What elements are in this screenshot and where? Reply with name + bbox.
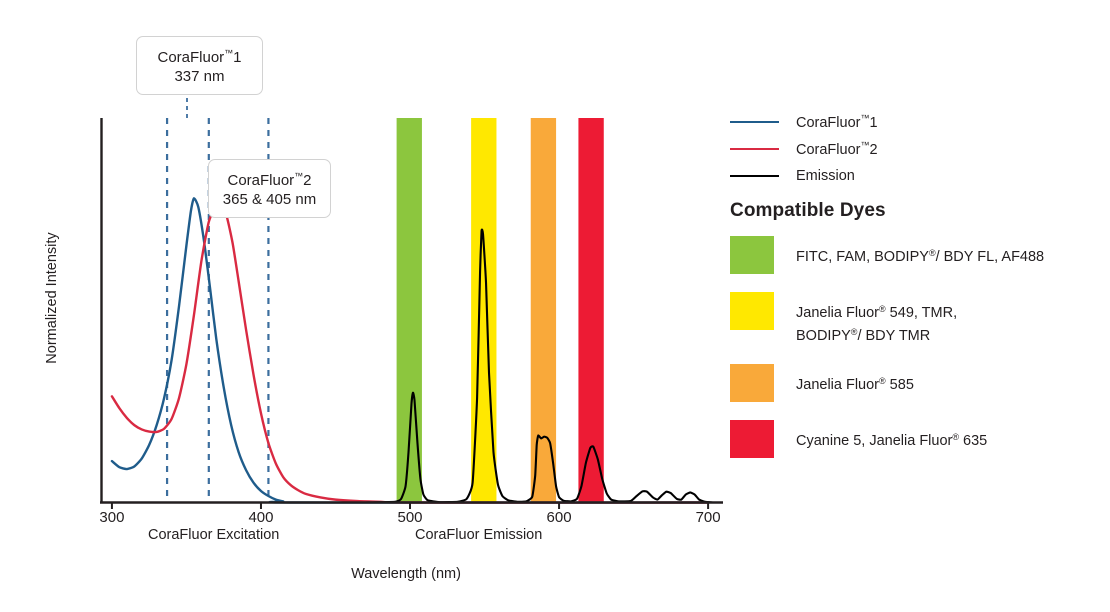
compatible-dyes-list: FITC, FAM, BODIPY®/ BDY FL, AF488 Janeli… xyxy=(730,236,1102,476)
compatible-dyes-title: Compatible Dyes xyxy=(730,200,886,222)
excitation-region-label: CoraFluor Excitation xyxy=(148,527,279,543)
dye-color-swatch xyxy=(730,364,774,402)
callout-corafluor-2: CoraFluor™2 365 & 405 nm xyxy=(208,159,331,218)
legend-item: CoraFluor™2 xyxy=(730,135,1090,162)
dye-color-swatch xyxy=(730,292,774,330)
callout-one-line2: 337 nm xyxy=(149,67,250,86)
dye-color-swatch xyxy=(730,420,774,458)
dye-item-text: Cyanine 5, Janelia Fluor® 635 xyxy=(796,420,987,451)
orange-band xyxy=(531,118,556,503)
callout-two-line2: 365 & 405 nm xyxy=(221,190,318,209)
legend-item-label: CoraFluor™1 xyxy=(796,113,878,131)
legend-line-swatch xyxy=(730,121,779,123)
callout-corafluor-1: CoraFluor™1 337 nm xyxy=(136,36,263,95)
legend-line-swatch xyxy=(730,148,779,150)
legend-item-label: Emission xyxy=(796,168,855,184)
dye-item-line2: BODIPY®/ BDY TMR xyxy=(796,323,957,346)
dye-item-line1: Janelia Fluor® 585 xyxy=(796,377,914,393)
dye-list-item: Janelia Fluor® 585 xyxy=(730,364,1102,402)
x-axis-title: Wavelength (nm) xyxy=(0,566,812,582)
x-tick-label-400: 400 xyxy=(231,509,291,526)
legend-item: CoraFluor™1 xyxy=(730,108,1090,135)
dye-item-line1: FITC, FAM, BODIPY®/ BDY FL, AF488 xyxy=(796,249,1044,265)
dye-list-item: Janelia Fluor® 549, TMR, BODIPY®/ BDY TM… xyxy=(730,292,1102,346)
dye-item-line1: Janelia Fluor® 549, TMR, xyxy=(796,305,957,321)
x-tick-label-300: 300 xyxy=(82,509,142,526)
emission-band-group xyxy=(397,118,604,503)
legend-item: Emission xyxy=(730,162,1090,189)
y-axis-title: Normalized Intensity xyxy=(44,208,60,388)
dye-color-swatch xyxy=(730,236,774,274)
red-band xyxy=(578,118,603,503)
dye-item-line1: Cyanine 5, Janelia Fluor® 635 xyxy=(796,433,987,449)
dye-item-text: Janelia Fluor® 549, TMR, BODIPY®/ BDY TM… xyxy=(796,292,957,346)
x-tick-label-600: 600 xyxy=(529,509,589,526)
chart-legend: CoraFluor™1 CoraFluor™2 Emission xyxy=(730,108,1090,189)
dye-item-text: FITC, FAM, BODIPY®/ BDY FL, AF488 xyxy=(796,236,1044,267)
callout-one-line1: CoraFluor™1 xyxy=(157,49,241,66)
dye-list-item: FITC, FAM, BODIPY®/ BDY FL, AF488 xyxy=(730,236,1102,274)
callout-two-line1: CoraFluor™2 xyxy=(227,172,311,189)
emission-region-label: CoraFluor Emission xyxy=(415,527,542,543)
dye-item-text: Janelia Fluor® 585 xyxy=(796,364,914,395)
x-tick-label-700: 700 xyxy=(678,509,738,526)
legend-item-label: CoraFluor™2 xyxy=(796,140,878,158)
dye-list-item: Cyanine 5, Janelia Fluor® 635 xyxy=(730,420,1102,458)
x-tick-label-500: 500 xyxy=(380,509,440,526)
legend-line-swatch xyxy=(730,175,779,177)
